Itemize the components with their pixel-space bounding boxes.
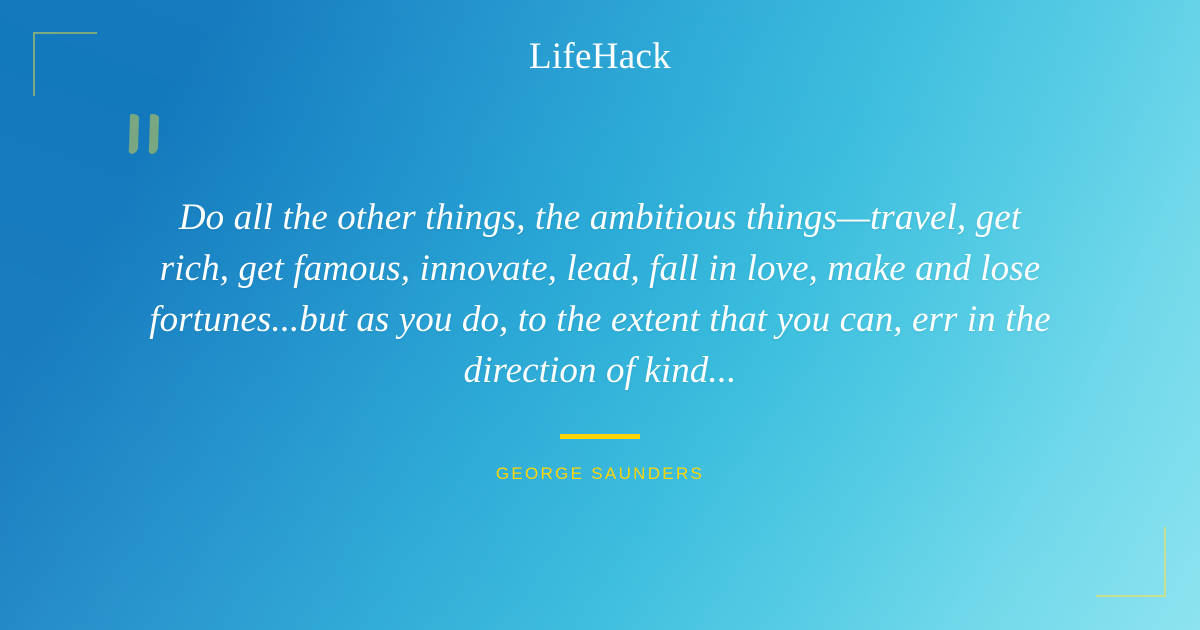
double-quote-icon xyxy=(126,112,172,160)
quote-line: direction of kind... xyxy=(80,345,1120,396)
corner-bracket-bottom-right-icon xyxy=(1096,527,1166,597)
quote-text: Do all the other things, the ambitious t… xyxy=(80,192,1120,396)
quote-line: fortunes...but as you do, to the extent … xyxy=(80,294,1120,345)
quote-author: GEORGE SAUNDERS xyxy=(0,464,1200,484)
quote-card: LifeHack Do all the other things, the am… xyxy=(0,0,1200,630)
brand-logo: LifeHack xyxy=(0,38,1200,75)
attribution-divider xyxy=(560,434,640,439)
quote-line: Do all the other things, the ambitious t… xyxy=(80,192,1120,243)
quote-line: rich, get famous, innovate, lead, fall i… xyxy=(80,243,1120,294)
